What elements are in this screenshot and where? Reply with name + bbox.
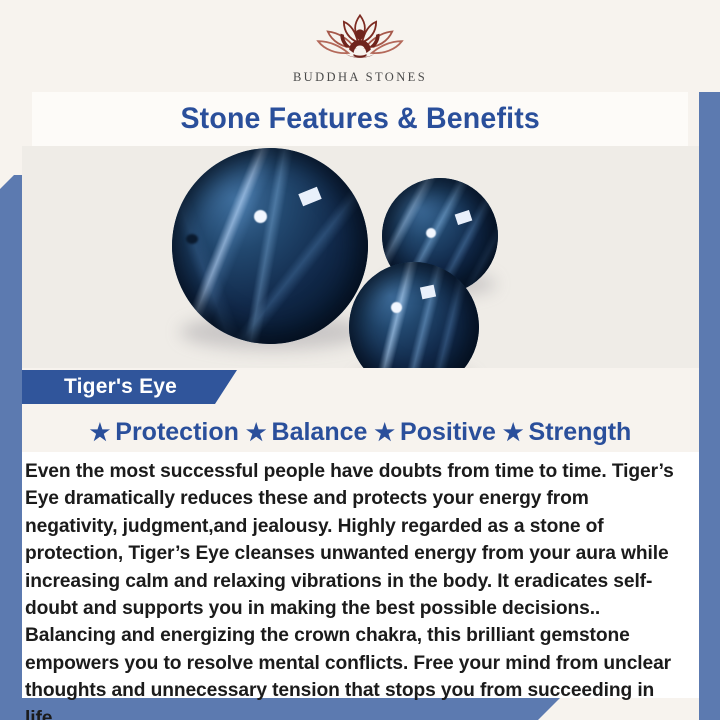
title-band: Stone Features & Benefits	[32, 92, 688, 146]
star-icon: ★	[374, 421, 395, 444]
benefit-label: Balance	[272, 418, 368, 447]
sphere-highlight	[426, 228, 436, 238]
stone-name: Tiger's Eye	[64, 375, 177, 399]
stone-name-banner: Tiger's Eye	[22, 370, 237, 404]
benefit-item: ★ Balance	[246, 418, 375, 447]
frame-bar-right	[699, 17, 720, 720]
star-icon: ★	[503, 421, 524, 444]
product-infographic: BUDDHA STONES Stone Features & Benefits	[0, 0, 720, 720]
brand-name: BUDDHA STONES	[270, 70, 450, 85]
page-title: Stone Features & Benefits	[180, 102, 540, 136]
stone-photo	[22, 146, 699, 368]
lotus-meditation-icon	[306, 10, 414, 68]
description-text: Even the most successful people have dou…	[25, 458, 676, 720]
benefit-label: Strength	[529, 418, 632, 447]
stone-sphere-large	[172, 148, 368, 344]
sphere-dark-spot	[186, 234, 198, 244]
sphere-rim-shading	[172, 148, 368, 344]
sphere-highlight	[254, 210, 267, 223]
benefit-item: ★ Positive	[374, 418, 503, 447]
description-panel: Even the most successful people have dou…	[22, 452, 699, 698]
sphere-highlight	[391, 302, 402, 313]
frame-bar-left	[0, 175, 22, 720]
benefit-label: Positive	[400, 418, 496, 447]
benefit-item: ★ Protection	[90, 418, 246, 447]
star-icon: ★	[246, 421, 267, 444]
star-icon: ★	[90, 421, 111, 444]
benefit-label: Protection	[115, 418, 239, 447]
brand-logo: BUDDHA STONES	[270, 10, 450, 85]
brand-header: BUDDHA STONES	[0, 0, 720, 92]
benefit-item: ★ Strength	[503, 418, 631, 447]
benefits-list: ★ Protection ★ Balance ★ Positive ★ Stre…	[22, 412, 699, 452]
